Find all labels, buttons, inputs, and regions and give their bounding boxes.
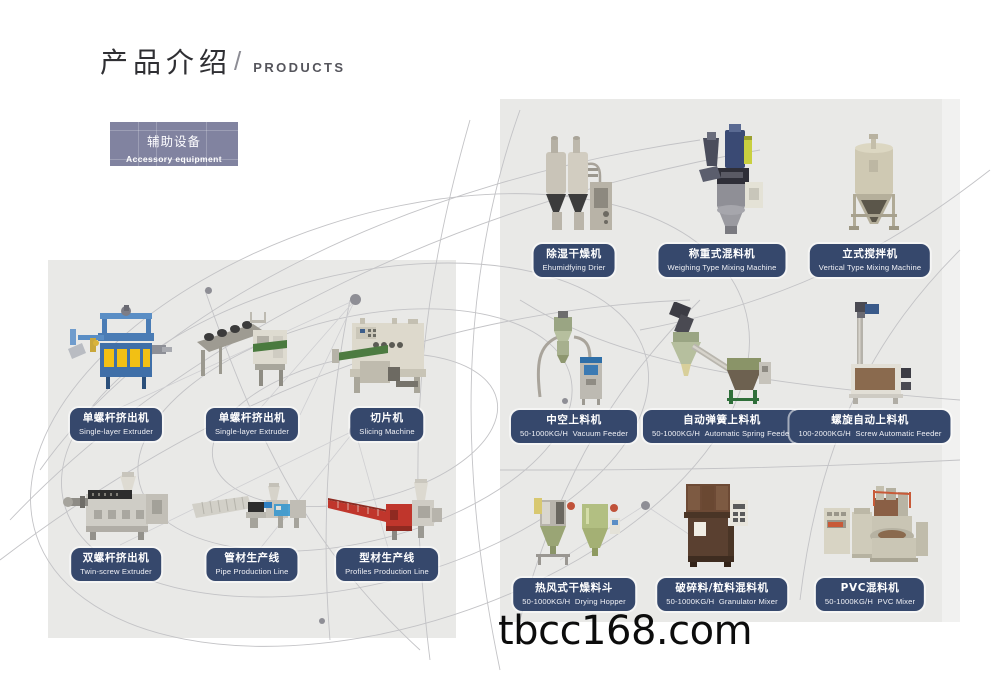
product-image-roller-conveyor-machine bbox=[195, 310, 305, 395]
product-label-twin-screw-extruder[interactable]: 双螺杆挤出机 Twin-screw Extruder bbox=[71, 548, 161, 581]
category-tag-label-cn: 辅助设备 bbox=[110, 131, 238, 150]
product-label-en: Single-layer Extruder bbox=[79, 427, 153, 437]
product-label-pipe-production-line[interactable]: 管材生产线 Pipe Production Line bbox=[206, 548, 297, 581]
product-label-cn: 除湿干燥机 bbox=[543, 248, 606, 261]
product-label-en: Weighing Type Mixing Machine bbox=[667, 263, 776, 273]
product-image-automatic-spring-feeder bbox=[665, 302, 775, 407]
right-panel-edge-strip bbox=[942, 99, 960, 622]
product-label-en-text: Drying Hopper bbox=[575, 597, 626, 606]
watermark-text: tbcc168.com bbox=[498, 608, 752, 654]
product-label-en-text: Automatic Spring Feeder bbox=[705, 429, 792, 438]
product-label-en: 50-1000KG/H Granulator Mixer bbox=[666, 597, 778, 607]
product-label-en-text: PVC Mixer bbox=[877, 597, 915, 606]
product-label-profiles-production-line[interactable]: 型材生产线 Profiles Production Line bbox=[336, 548, 438, 581]
product-label-cn: 称重式混料机 bbox=[667, 248, 776, 261]
page-title-separator: / bbox=[234, 46, 241, 77]
orbit-node-dot bbox=[350, 294, 361, 305]
product-label-cn: 切片机 bbox=[359, 412, 414, 425]
product-label-cn: 热风式干燥料斗 bbox=[522, 582, 626, 595]
product-label-en-text: Granulator Mixer bbox=[719, 597, 778, 606]
product-label-en: Single-layer Extruder bbox=[215, 427, 289, 437]
orbit-node-dot bbox=[205, 287, 212, 294]
product-label-en: Twin-screw Extruder bbox=[80, 567, 152, 577]
product-image-screw-automatic-feeder bbox=[835, 298, 915, 406]
product-image-extruder-blue-machine bbox=[62, 305, 174, 395]
product-capacity: 50-1000KG/H bbox=[522, 597, 570, 606]
product-label-en: Profiles Production Line bbox=[345, 567, 429, 577]
product-label-cn: 破碎料/粒料混料机 bbox=[666, 582, 778, 595]
orbit-node-dot bbox=[641, 501, 650, 510]
category-tag-label-en: Accessory equipment bbox=[110, 154, 238, 164]
page-title-block: 产品介绍 / PRODUCTS bbox=[100, 46, 345, 78]
orbit-node-dot bbox=[319, 618, 325, 624]
product-image-weighing-mixing-machine bbox=[695, 122, 767, 237]
product-label-single-layer-extruder-1[interactable]: 单螺杆挤出机 Single-layer Extruder bbox=[70, 408, 162, 441]
product-label-granulator-mixer[interactable]: 破碎料/粒料混料机 50-1000KG/H Granulator Mixer bbox=[657, 578, 787, 611]
product-capacity: 50-1000KG/H bbox=[825, 597, 873, 606]
product-capacity: 50-1000KG/H bbox=[666, 597, 714, 606]
product-catalog-page: 产品介绍 / PRODUCTS 辅助设备 Accessory equipment bbox=[0, 0, 1000, 678]
product-label-vacuum-feeder[interactable]: 中空上料机 50-1000KG/H Vacuum Feeder bbox=[511, 410, 637, 443]
product-label-automatic-spring-feeder[interactable]: 自动弹簧上料机 50-1000KG/H Automatic Spring Fee… bbox=[643, 410, 801, 443]
product-capacity: 50-1000KG/H bbox=[520, 429, 568, 438]
product-label-weighing-mixing-machine[interactable]: 称重式混料机 Weighing Type Mixing Machine bbox=[658, 244, 785, 277]
product-label-slicing-machine[interactable]: 切片机 Slicing Machine bbox=[350, 408, 423, 441]
product-image-vacuum-feeder bbox=[528, 305, 606, 405]
product-label-en: Vertical Type Mixing Machine bbox=[819, 263, 921, 273]
product-label-en: Pipe Production Line bbox=[215, 567, 288, 577]
product-label-cn: 管材生产线 bbox=[215, 552, 288, 565]
product-label-dehumidifying-drier[interactable]: 除湿干燥机 Ehumidfying Drier bbox=[534, 244, 615, 277]
product-label-en-text: Screw Automatic Feeder bbox=[855, 429, 941, 438]
product-image-profiles-production-line bbox=[326, 478, 444, 544]
product-label-cn: 单螺杆挤出机 bbox=[79, 412, 153, 425]
product-label-single-layer-extruder-2[interactable]: 单螺杆挤出机 Single-layer Extruder bbox=[206, 408, 298, 441]
product-image-drying-hopper bbox=[528, 480, 636, 570]
product-label-en: 50-1000KG/H Drying Hopper bbox=[522, 597, 626, 607]
product-label-en: Ehumidfying Drier bbox=[543, 263, 606, 273]
product-capacity: 100-2000KG/H bbox=[798, 429, 850, 438]
product-label-en: 50-1000KG/H PVC Mixer bbox=[825, 597, 915, 607]
product-label-cn: 立式搅拌机 bbox=[819, 248, 921, 261]
product-image-dehumidifying-drier bbox=[540, 130, 616, 235]
product-label-cn: 自动弹簧上料机 bbox=[652, 414, 792, 427]
category-tag-accessory-equipment[interactable]: 辅助设备 Accessory equipment bbox=[110, 122, 238, 166]
product-label-en: 50-1000KG/H Vacuum Feeder bbox=[520, 429, 628, 439]
product-label-cn: 螺旋自动上料机 bbox=[798, 414, 941, 427]
product-label-cn: PVC混料机 bbox=[825, 582, 915, 595]
product-label-cn: 单螺杆挤出机 bbox=[215, 412, 289, 425]
product-image-pipe-production-line bbox=[190, 480, 310, 542]
product-label-cn: 型材生产线 bbox=[345, 552, 429, 565]
page-title-en: PRODUCTS bbox=[253, 60, 345, 75]
product-image-granulator-mixer bbox=[680, 478, 752, 570]
product-label-en: 100-2000KG/H Screw Automatic Feeder bbox=[798, 429, 941, 439]
product-image-twin-screw-extruder bbox=[58, 472, 176, 542]
product-label-cn: 双螺杆挤出机 bbox=[80, 552, 152, 565]
product-label-drying-hopper[interactable]: 热风式干燥料斗 50-1000KG/H Drying Hopper bbox=[513, 578, 635, 611]
product-image-slicing-machine bbox=[330, 305, 440, 400]
product-label-pvc-mixer[interactable]: PVC混料机 50-1000KG/H PVC Mixer bbox=[816, 578, 924, 611]
product-capacity: 50-1000KG/H bbox=[652, 429, 700, 438]
product-label-en: Slicing Machine bbox=[359, 427, 414, 437]
product-label-screw-automatic-feeder[interactable]: 螺旋自动上料机 100-2000KG/H Screw Automatic Fee… bbox=[789, 410, 950, 443]
page-title-cn: 产品介绍 bbox=[100, 50, 232, 78]
product-label-en: 50-1000KG/H Automatic Spring Feeder bbox=[652, 429, 792, 439]
product-label-cn: 中空上料机 bbox=[520, 414, 628, 427]
product-label-en-text: Vacuum Feeder bbox=[573, 429, 628, 438]
product-image-vertical-mixing-machine bbox=[845, 130, 903, 235]
product-label-vertical-mixing-machine[interactable]: 立式搅拌机 Vertical Type Mixing Machine bbox=[810, 244, 930, 277]
product-image-pvc-mixer bbox=[820, 478, 932, 570]
